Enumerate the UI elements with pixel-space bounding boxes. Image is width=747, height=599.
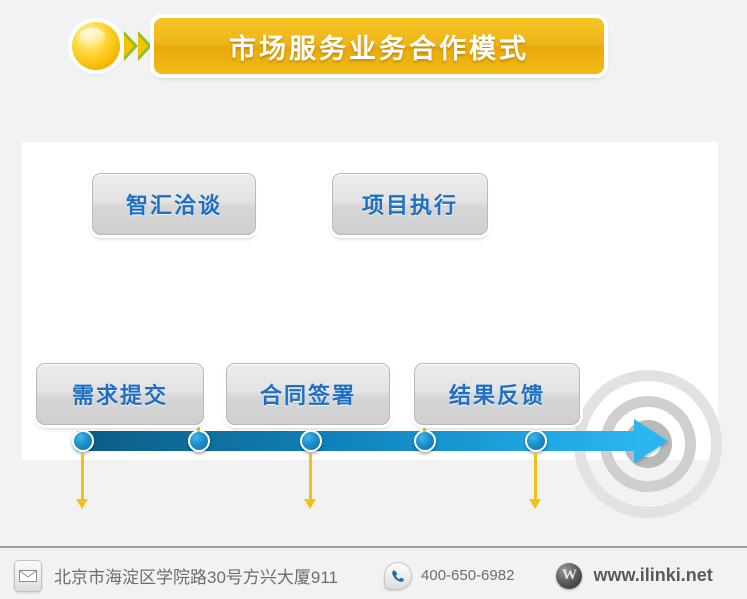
timeline-node-3[interactable] xyxy=(300,430,322,452)
arrow-head-icon xyxy=(634,419,668,463)
connector-line-5 xyxy=(534,453,537,501)
footer-divider xyxy=(0,546,747,548)
process-timeline-arrow xyxy=(77,431,642,451)
timeline-node-1[interactable] xyxy=(72,430,94,452)
timeline-node-5[interactable] xyxy=(525,430,547,452)
phone-icon xyxy=(384,562,412,590)
footer-phone: 400-650-6982 xyxy=(421,567,514,584)
globe-icon-glyph: W xyxy=(562,567,577,584)
chevron-right-icon xyxy=(124,31,138,61)
timeline-node-4[interactable] xyxy=(414,430,436,452)
footer-website: www.ilinki.net xyxy=(593,565,712,586)
process-box-label: 合同签署 xyxy=(260,378,356,410)
connector-arrowhead-1 xyxy=(76,499,88,509)
globe-icon: W xyxy=(556,563,582,589)
connector-line-1 xyxy=(81,453,84,501)
process-box-label: 需求提交 xyxy=(72,378,168,410)
title-banner: 市场服务业务合作模式 xyxy=(72,18,604,74)
chevron-right-icon xyxy=(138,31,152,61)
process-box-label: 结果反馈 xyxy=(449,378,545,410)
footer-divider-light xyxy=(0,549,747,550)
connector-arrowhead-5 xyxy=(529,499,541,509)
connector-arrowhead-3 xyxy=(304,499,316,509)
gold-sphere-icon xyxy=(72,22,120,70)
connector-line-3 xyxy=(309,453,312,501)
process-box-jieguo-fankui[interactable]: 结果反馈 xyxy=(414,363,580,425)
content-panel: 智汇洽谈 项目执行 需求提交 合同签署 结果反馈 xyxy=(22,142,718,460)
process-box-xuqiu-tijiao[interactable]: 需求提交 xyxy=(36,363,204,425)
process-box-label: 项目执行 xyxy=(362,188,458,220)
process-box-label: 智汇洽谈 xyxy=(126,188,222,220)
banner-bar: 市场服务业务合作模式 xyxy=(154,18,604,74)
process-box-hetong-qianshu[interactable]: 合同签署 xyxy=(226,363,390,425)
mail-icon xyxy=(14,560,42,592)
page-title: 市场服务业务合作模式 xyxy=(229,27,529,66)
footer-address: 北京市海淀区学院路30号方兴大厦911 xyxy=(54,563,338,588)
timeline-node-2[interactable] xyxy=(188,430,210,452)
footer: 北京市海淀区学院路30号方兴大厦911 400-650-6982 W www.i… xyxy=(0,552,747,599)
process-box-zhihui-qiatan[interactable]: 智汇洽谈 xyxy=(92,173,256,235)
process-box-xiangmu-zhixing[interactable]: 项目执行 xyxy=(332,173,488,235)
